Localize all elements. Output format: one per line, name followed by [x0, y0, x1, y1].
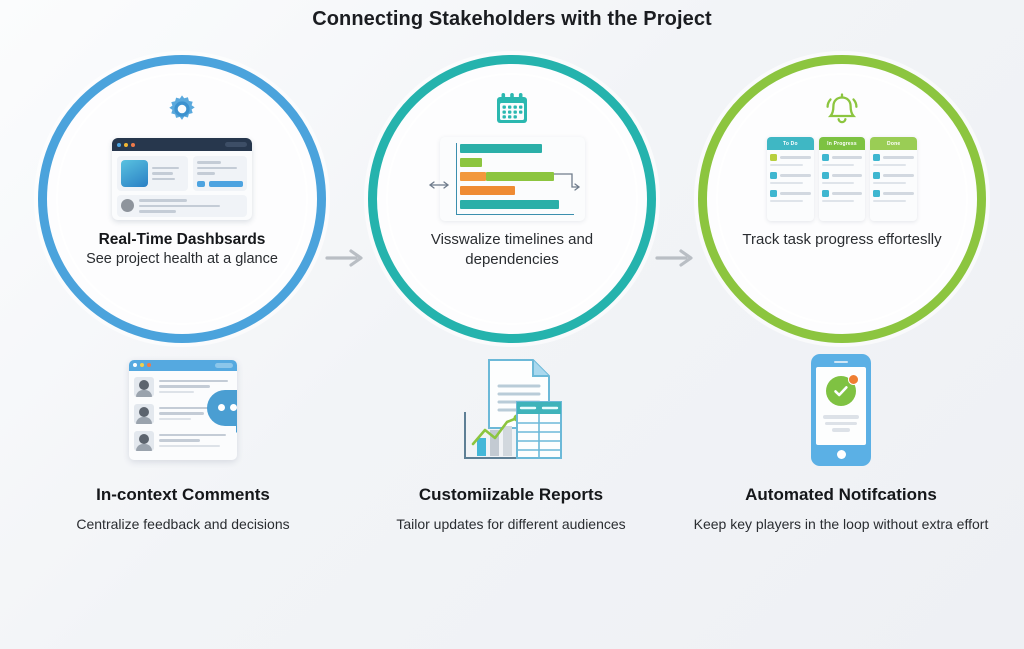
- kanban-task[interactable]: [770, 154, 811, 166]
- avatar: [134, 431, 154, 451]
- gantt-bar: [460, 158, 482, 167]
- circle-subtitle: Track task progress efforteslly: [735, 230, 950, 250]
- feature-list-row: In-context Comments Centralize feedback …: [0, 352, 1024, 582]
- dashboard-side-lines: [197, 160, 243, 176]
- dashboard-metric-card: [117, 156, 188, 191]
- feature-circle-row: Real-Time Dashbsards See project health …: [0, 55, 1024, 345]
- table-icon: [517, 402, 561, 458]
- feature-subtitle: Keep key players in the loop without ext…: [676, 515, 1006, 535]
- browser-window: [112, 138, 252, 220]
- circle-card-dashboards[interactable]: Real-Time Dashbsards See project health …: [38, 55, 326, 343]
- browser-address-pill: [225, 142, 247, 147]
- kanban-task[interactable]: [822, 190, 863, 202]
- comments-bar-pill: [215, 363, 233, 368]
- gantt-bar: [460, 200, 559, 209]
- feature-subtitle: Centralize feedback and decisions: [18, 515, 348, 535]
- browser-title-bar: [112, 138, 252, 151]
- phone-speaker: [834, 361, 848, 364]
- circle-text-timelines: Visswalize timelines and dependencies: [405, 230, 620, 271]
- gantt-bar: [460, 144, 542, 153]
- dashboard-text-lines: [152, 160, 184, 187]
- bell-icon: [821, 86, 863, 132]
- dashboard-chart-thumb: [121, 160, 148, 187]
- gantt-bar: [460, 186, 515, 195]
- comments-window-icon: [18, 352, 348, 467]
- dashboard-card-row: [117, 156, 247, 191]
- circle-subtitle: Visswalize timelines and dependencies: [405, 230, 620, 271]
- gantt-left-dependency-arrow: [428, 179, 450, 191]
- gear-icon: [162, 86, 202, 132]
- arrow-circle-2-to-3: [653, 245, 699, 271]
- calendar-icon: [493, 86, 531, 132]
- arrow-circle-1-to-2: [323, 245, 369, 271]
- bubble-dot: [218, 404, 225, 411]
- feature-automated-notifications[interactable]: Automated Notifcations Keep key players …: [676, 352, 1006, 535]
- kanban-column-header: To Do: [767, 137, 814, 150]
- phone-device: [811, 354, 871, 466]
- feature-customizable-reports[interactable]: Customiizable Reports Tailor updates for…: [346, 352, 676, 535]
- notification-badge: [848, 374, 859, 385]
- comments-title-bar: [129, 360, 237, 371]
- window-dot-2: [140, 363, 144, 367]
- kanban-task[interactable]: [873, 172, 914, 184]
- kanban-column-body: [767, 150, 814, 206]
- kanban-column-todo[interactable]: To Do: [767, 137, 814, 221]
- feature-title: In-context Comments: [18, 485, 348, 505]
- kanban-column-done[interactable]: Done: [870, 137, 917, 221]
- kanban-board-mockup: To Do: [767, 136, 917, 222]
- window-dot-blue: [117, 143, 121, 147]
- phone-line: [825, 422, 857, 426]
- gantt-bar: [486, 172, 554, 181]
- dashboard-browser-mockup: [112, 136, 252, 222]
- phone-line: [832, 428, 850, 432]
- phone-screen: [816, 367, 866, 445]
- gantt-bar: [460, 172, 486, 181]
- window-dot-3: [147, 363, 151, 367]
- browser-content: [112, 151, 252, 220]
- kanban-column-header: Done: [870, 137, 917, 150]
- feature-title: Automated Notifcations: [676, 485, 1006, 505]
- kanban-task[interactable]: [822, 154, 863, 166]
- dashboard-side-card: [193, 156, 247, 191]
- circle-card-timelines[interactable]: Visswalize timelines and dependencies: [368, 55, 656, 343]
- avatar: [121, 199, 134, 212]
- comments-window: [129, 360, 237, 460]
- phone-text-lines: [823, 415, 859, 432]
- page-title: Connecting Stakeholders with the Project: [0, 8, 1024, 31]
- phone-line: [823, 415, 859, 419]
- reports-document-chart-table-icon: [346, 352, 676, 467]
- activity-lines: [139, 199, 243, 213]
- gantt-y-axis: [456, 143, 458, 215]
- circle-text-task-progress: Track task progress efforteslly: [735, 230, 950, 250]
- avatar: [134, 404, 154, 424]
- phone-notification-icon: [676, 352, 1006, 467]
- kanban-column-body: [870, 150, 917, 206]
- kanban-task[interactable]: [873, 190, 914, 202]
- feature-in-context-comments[interactable]: In-context Comments Centralize feedback …: [18, 352, 348, 535]
- window-dot-orange: [131, 143, 135, 147]
- avatar: [134, 377, 154, 397]
- window-dot-yellow: [124, 143, 128, 147]
- kanban-column-body: [819, 150, 866, 206]
- gantt-chart: [440, 137, 585, 221]
- kanban-task[interactable]: [822, 172, 863, 184]
- bubble-dot: [230, 404, 237, 411]
- window-dot-1: [133, 363, 137, 367]
- comment-row: [134, 431, 232, 451]
- gantt-right-dependency-arrow: [552, 169, 582, 193]
- circle-subtitle: See project health at a glance: [75, 250, 290, 269]
- kanban-task[interactable]: [770, 172, 811, 184]
- feature-title: Customiizable Reports: [346, 485, 676, 505]
- gantt-chart-mockup: [440, 136, 585, 222]
- kanban-column-header: In Progress: [819, 137, 866, 150]
- kanban-task[interactable]: [770, 190, 811, 202]
- feature-subtitle: Tailor updates for different audiences: [346, 515, 676, 535]
- speech-bubble-icon: [207, 390, 237, 426]
- circle-title: Real-Time Dashbsards: [75, 230, 290, 250]
- phone-home-button: [837, 450, 846, 459]
- success-check-icon: [826, 376, 856, 406]
- circle-text-dashboards: Real-Time Dashbsards See project health …: [75, 230, 290, 269]
- kanban-column-inprogress[interactable]: In Progress: [819, 137, 866, 221]
- circle-card-task-progress[interactable]: To Do: [698, 55, 986, 343]
- gantt-x-axis: [456, 214, 574, 216]
- kanban-task[interactable]: [873, 154, 914, 166]
- dashboard-activity-row: [117, 195, 247, 217]
- kanban-board: To Do: [767, 137, 917, 221]
